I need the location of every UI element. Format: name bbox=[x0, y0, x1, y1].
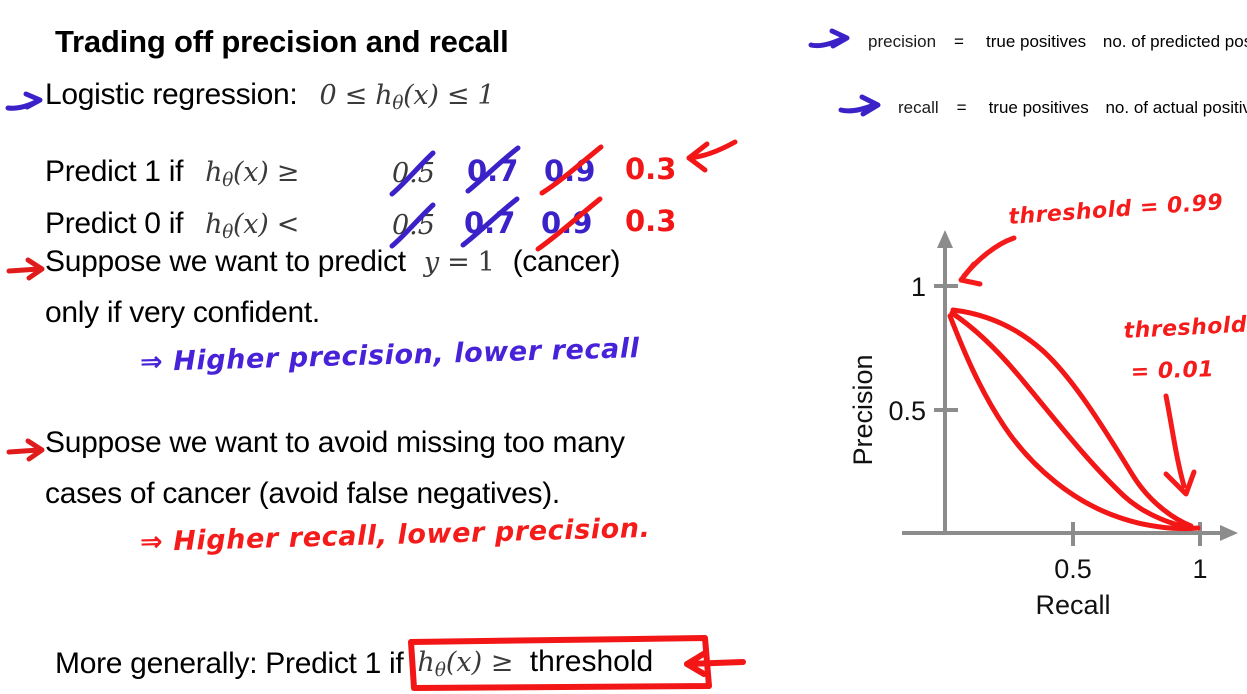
y-tick-label-0-5: 0.5 bbox=[888, 396, 926, 426]
annotation-threshold-001-line2: = 0.01 bbox=[1130, 357, 1214, 385]
x-tick-label-1: 1 bbox=[1192, 554, 1207, 584]
confident-line-2: only if very confident. bbox=[45, 296, 320, 330]
pr-curve-group bbox=[950, 310, 1198, 529]
predict-0-label: Predict 0 if bbox=[45, 207, 183, 240]
precision-numerator: true positives bbox=[978, 32, 1094, 52]
boxed-threshold-formula: hθ(x) ≥ threshold bbox=[409, 643, 665, 685]
equals-sign: = bbox=[954, 32, 964, 52]
more-generally-prefix: More generally: Predict 1 if bbox=[55, 647, 403, 681]
confident-text-after: (cancer) bbox=[513, 245, 621, 278]
precision-definition-row: precision = true positives no. of predic… bbox=[808, 28, 1247, 56]
predict-1-formula: hθ(x) ≥ bbox=[205, 157, 299, 188]
strikethrough-icon bbox=[460, 145, 530, 199]
pr-curve-lower bbox=[950, 316, 1198, 529]
threshold-value-0-9-predict1: 0.9 bbox=[544, 154, 595, 188]
predict-0-formula: hθ(x) < bbox=[205, 209, 299, 240]
predict-0-line: Predict 0 if hθ(x) < bbox=[45, 207, 299, 243]
threshold-value-0-3-predict1: 0.3 bbox=[625, 152, 676, 186]
predict-1-label: Predict 1 if bbox=[45, 155, 183, 188]
strikethrough-icon bbox=[385, 149, 445, 201]
recall-fraction: true positives no. of actual positive bbox=[981, 97, 1247, 119]
strikethrough-icon bbox=[537, 145, 613, 201]
arrow-right-icon bbox=[808, 28, 858, 56]
annotation-threshold-099: threshold = 0.99 bbox=[1008, 190, 1224, 230]
threshold-value-0-5-predict0: 0.5 bbox=[392, 210, 435, 241]
y-axis bbox=[937, 230, 953, 533]
precision-recall-chart: 1 0.5 0.5 1 Recall Precision threshold =… bbox=[846, 186, 1247, 616]
confident-text-before: Suppose we want to predict bbox=[45, 245, 406, 278]
arrow-right-icon bbox=[6, 255, 50, 285]
x-axis-title: Recall bbox=[1035, 590, 1110, 620]
annotation-arrow-099 bbox=[961, 238, 1014, 284]
y-equals-1-formula: y = 1 bbox=[424, 247, 495, 278]
page-title: Trading off precision and recall bbox=[55, 24, 509, 60]
arrow-right-icon bbox=[838, 94, 888, 122]
arrow-right-icon bbox=[6, 436, 50, 466]
annotation-arrow-001 bbox=[1166, 396, 1194, 494]
logistic-regression-label: Logistic regression: bbox=[45, 78, 297, 111]
threshold-word: threshold bbox=[530, 645, 653, 678]
threshold-value-0-5-predict1: 0.5 bbox=[392, 158, 435, 189]
confident-line-1: Suppose we want to predict y = 1 (cancer… bbox=[45, 245, 620, 279]
recall-numerator: true positives bbox=[981, 98, 1097, 118]
precision-fraction: true positives no. of predicted positive bbox=[978, 31, 1247, 53]
threshold-inequality-formula: hθ(x) ≥ bbox=[417, 647, 513, 678]
arrow-right-icon bbox=[4, 88, 48, 118]
handwritten-note-higher-precision: ⇒ Higher precision, lower recall bbox=[140, 333, 640, 378]
annotation-threshold-001-line1: threshold bbox=[1123, 313, 1247, 344]
predict-1-line: Predict 1 if hθ(x) ≥ bbox=[45, 155, 299, 191]
threshold-value-0-9-predict0: 0.9 bbox=[541, 206, 592, 240]
recall-definition-row: recall = true positives no. of actual po… bbox=[838, 94, 1247, 122]
false-negatives-line-2: cases of cancer (avoid false negatives). bbox=[45, 477, 560, 511]
y-tick-label-1: 1 bbox=[911, 272, 926, 302]
threshold-value-0-7-predict1: 0.7 bbox=[467, 154, 518, 188]
logistic-range-formula: 0 ≤ hθ(x) ≤ 1 bbox=[320, 80, 495, 111]
equals-sign: = bbox=[957, 98, 967, 118]
recall-label: recall bbox=[898, 98, 939, 118]
x-tick-label-0-5: 0.5 bbox=[1054, 554, 1092, 584]
precision-label: precision bbox=[868, 32, 936, 52]
precision-denominator: no. of predicted positive bbox=[1099, 31, 1247, 51]
threshold-value-0-3-predict0: 0.3 bbox=[625, 204, 676, 238]
more-generally-line: More generally: Predict 1 if hθ(x) ≥ thr… bbox=[55, 643, 751, 685]
recall-denominator: no. of actual positive bbox=[1101, 97, 1247, 117]
threshold-value-0-7-predict0: 0.7 bbox=[464, 206, 515, 240]
false-negatives-line-1: Suppose we want to avoid missing too man… bbox=[45, 426, 625, 460]
handwritten-note-higher-recall: ⇒ Higher recall, lower precision. bbox=[140, 513, 651, 558]
slide-canvas: Trading off precision and recall Logisti… bbox=[0, 0, 1247, 694]
arrow-left-icon bbox=[685, 140, 741, 189]
logistic-regression-line: Logistic regression: 0 ≤ hθ(x) ≤ 1 bbox=[45, 78, 494, 114]
y-axis-title: Precision bbox=[848, 354, 878, 465]
